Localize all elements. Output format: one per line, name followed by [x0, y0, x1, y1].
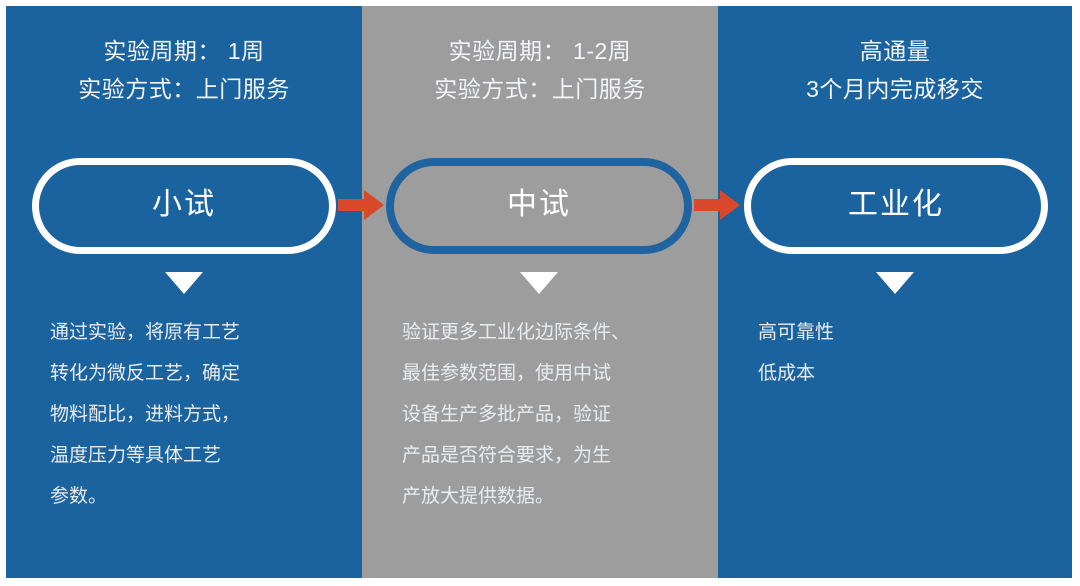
description-line: 高可靠性 [758, 312, 834, 353]
description-line: 最佳参数范围，使用中试 [402, 353, 630, 394]
stage-header-line: 实验方式：上门服务 [6, 70, 362, 108]
stage-pill-label: 工业化 [848, 190, 944, 220]
description-line: 物料配比，进料方式， [50, 394, 240, 435]
stage-description-industrialization: 高可靠性 低成本 [758, 312, 834, 394]
process-flow-diagram: 实验周期： 1周 实验方式：上门服务 小试 通过实验，将原有工艺 转化为微反工艺… [0, 0, 1080, 586]
stage-header-small-trial: 实验周期： 1周 实验方式：上门服务 [6, 32, 362, 108]
down-triangle-icon [520, 272, 558, 294]
right-arrow-icon [694, 190, 740, 220]
stage-panel-small-trial: 实验周期： 1周 实验方式：上门服务 小试 通过实验，将原有工艺 转化为微反工艺… [6, 6, 362, 578]
stage-pill-label: 小试 [152, 190, 216, 220]
description-line: 参数。 [50, 476, 240, 517]
stage-description-small-trial: 通过实验，将原有工艺 转化为微反工艺，确定 物料配比，进料方式， 温度压力等具体… [50, 312, 240, 517]
stage-panel-medium-trial: 实验周期： 1-2周 实验方式：上门服务 中试 验证更多工业化边际条件、 最佳参… [362, 6, 718, 578]
description-line: 产品是否符合要求，为生 [402, 435, 630, 476]
description-line: 温度压力等具体工艺 [50, 435, 240, 476]
stage-header-medium-trial: 实验周期： 1-2周 实验方式：上门服务 [362, 32, 718, 108]
stage-panel-industrialization: 高通量 3个月内完成移交 工业化 高可靠性 低成本 [718, 6, 1072, 578]
description-line: 产放大提供数据。 [402, 476, 630, 517]
description-line: 通过实验，将原有工艺 [50, 312, 240, 353]
description-line: 设备生产多批产品，验证 [402, 394, 630, 435]
description-line: 低成本 [758, 353, 834, 394]
down-triangle-icon [165, 272, 203, 294]
stage-pill-medium-trial[interactable]: 中试 [386, 158, 692, 254]
stage-header-line: 高通量 [718, 32, 1072, 70]
stage-header-line: 实验周期： 1-2周 [362, 32, 718, 70]
stage-header-line: 实验方式：上门服务 [362, 70, 718, 108]
stage-header-industrialization: 高通量 3个月内完成移交 [718, 32, 1072, 108]
stage-header-line: 实验周期： 1周 [6, 32, 362, 70]
stage-pill-small-trial[interactable]: 小试 [32, 158, 336, 254]
stage-description-medium-trial: 验证更多工业化边际条件、 最佳参数范围，使用中试 设备生产多批产品，验证 产品是… [402, 312, 630, 517]
down-triangle-icon [876, 272, 914, 294]
stage-pill-label: 中试 [507, 190, 571, 220]
stage-header-line: 3个月内完成移交 [718, 70, 1072, 108]
description-line: 验证更多工业化边际条件、 [402, 312, 630, 353]
stage-pill-industrialization[interactable]: 工业化 [744, 158, 1048, 254]
description-line: 转化为微反工艺，确定 [50, 353, 240, 394]
right-arrow-icon [338, 190, 384, 220]
